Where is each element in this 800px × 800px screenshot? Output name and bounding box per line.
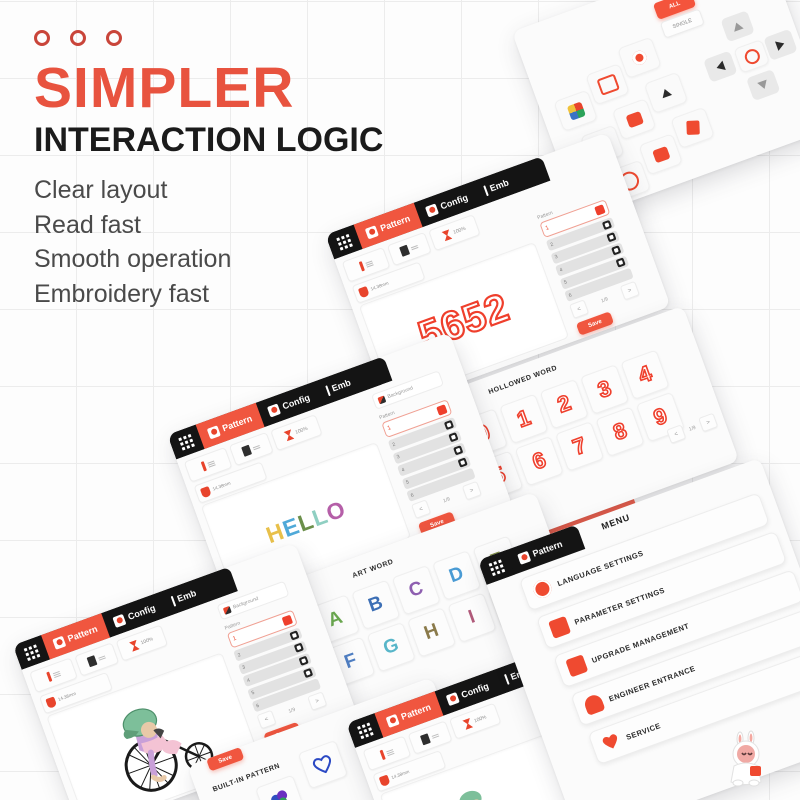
next-page-button[interactable]: > (620, 281, 640, 301)
shield-icon (45, 696, 57, 708)
tab-emb-label: Emb (176, 588, 198, 604)
pattern-thumb-icon (606, 232, 616, 242)
key-label: G (381, 634, 402, 660)
key-label: F (342, 650, 360, 675)
tab-config-label: Config (126, 603, 156, 622)
key-label: C (406, 577, 426, 602)
list-bubble-icon (548, 616, 571, 639)
flower-icon (268, 787, 293, 800)
key-letter[interactable]: C (392, 565, 441, 616)
icon-cell-color-palette[interactable] (553, 90, 598, 132)
key-letter[interactable]: D (432, 550, 481, 601)
key-pattern-flower[interactable] (255, 775, 306, 800)
spool-icon (399, 245, 410, 257)
key-digit[interactable]: 7 (555, 421, 604, 472)
hourglass-icon (284, 429, 295, 441)
page-indicator: 1/9 (442, 496, 451, 504)
tab-pattern-label: Pattern (66, 624, 99, 644)
tool-meta (431, 733, 439, 738)
grid-dots-icon (23, 644, 40, 661)
key-letter[interactable]: I (447, 592, 496, 643)
key-label: H (421, 620, 441, 645)
key-digit[interactable]: 3 (580, 364, 629, 415)
tool-meta (365, 260, 373, 267)
arrow-cursor-icon (660, 87, 672, 98)
list-item-label: 6 (568, 292, 573, 299)
page-indicator: 1/9 (600, 296, 609, 304)
magnify-box-icon (651, 146, 670, 163)
icon-cell-arrow-cursor[interactable] (644, 72, 689, 114)
tab-pattern-label: Pattern (531, 539, 564, 559)
key-label: 7 (569, 432, 589, 461)
list-item-label: 3 (241, 664, 246, 671)
heart-icon (600, 731, 623, 754)
icon-cell-frame[interactable] (585, 63, 630, 105)
upload-box-icon (565, 654, 588, 677)
shield-icon (379, 774, 391, 786)
tool-spool[interactable] (387, 232, 432, 266)
list-item-label: 3 (396, 454, 401, 461)
tab-emb-label: Emb (488, 177, 510, 193)
menu-item-label: ENGINEER ENTRANCE (607, 663, 696, 703)
config-icon (425, 203, 439, 217)
config-icon (446, 692, 460, 706)
tool-meta (411, 245, 419, 250)
thread-color-icon (200, 461, 206, 471)
key-digit[interactable]: 1 (499, 394, 548, 445)
thread-color-icon (358, 261, 364, 271)
tool-spool[interactable] (408, 720, 453, 754)
prev-page-button[interactable]: < (569, 299, 589, 319)
pattern-thumb-icon (616, 257, 626, 267)
key-label: D (446, 563, 466, 588)
dpad-up-button[interactable] (720, 10, 755, 42)
size-info-text: 14.38mm (391, 769, 410, 780)
background-swatch-icon (377, 395, 386, 404)
key-label: 6 (529, 447, 549, 476)
page-title: SIMPLER (34, 60, 454, 117)
circle-icon (106, 30, 122, 46)
key-letter[interactable]: H (407, 607, 456, 658)
list-item: Clear layout (34, 173, 454, 208)
key-label: B (366, 592, 386, 617)
hourglass-icon (129, 640, 140, 652)
camera-box-icon (625, 111, 644, 128)
key-label: 1 (514, 405, 534, 434)
size-info-text: 14.38mm (370, 280, 389, 291)
key-digit[interactable]: 4 (620, 349, 669, 400)
key-digit[interactable]: 2 (540, 379, 589, 430)
bunny-mascot-icon (718, 730, 776, 788)
emb-icon (325, 385, 331, 396)
list-item-label: 6 (255, 702, 260, 709)
tab-emb-label: Emb (330, 377, 352, 393)
pattern-icon (517, 550, 531, 564)
next-page-button[interactable]: > (698, 413, 718, 433)
pattern-selected-value: 1 (545, 225, 550, 232)
background-swatch-icon (223, 605, 232, 614)
center-target-icon (742, 47, 761, 66)
icon-cell-camera-box[interactable] (612, 98, 657, 140)
stitch-percent: 100% (473, 714, 487, 724)
tab-config-label: Config (439, 192, 469, 211)
triangle-up-icon (732, 21, 744, 32)
pattern-thumb-icon (294, 643, 304, 653)
pattern-thumb-icon (611, 245, 621, 255)
key-label: 3 (594, 375, 614, 404)
key-digit[interactable]: 6 (515, 436, 564, 487)
pattern-icon (365, 225, 379, 239)
hourglass-icon (462, 718, 473, 730)
stitch-percent: 100% (295, 426, 309, 436)
list-item-label: 2 (391, 441, 396, 448)
page-indicator: 1/9 (288, 706, 297, 714)
pattern-thumb-icon (281, 614, 293, 626)
grid-dots-icon (178, 434, 195, 451)
size-info-text: 14.38mm (57, 691, 76, 702)
tool-meta (98, 655, 106, 660)
key-letter[interactable]: G (367, 622, 416, 673)
tab-pattern-label: Pattern (221, 413, 254, 433)
thread-color-icon (46, 672, 52, 682)
circle-icon (34, 30, 50, 46)
bunny-mascot (718, 730, 776, 788)
prev-page-button[interactable]: < (256, 710, 276, 730)
pattern-thumb-icon (444, 419, 454, 429)
cyclist-embroidery-image (430, 764, 530, 800)
panel-title: ART WORD (352, 558, 395, 579)
tool-spool[interactable] (74, 642, 119, 676)
emb-icon (483, 185, 489, 196)
key-label: A (325, 607, 345, 632)
pattern-thumb-icon (298, 655, 308, 665)
tab-pattern-label: Pattern (379, 213, 412, 233)
tool-meta (253, 445, 261, 450)
config-icon (267, 403, 281, 417)
pattern-thumb-icon (458, 457, 468, 467)
list-item-label: 4 (246, 677, 251, 684)
key-digit[interactable]: 8 (595, 406, 644, 457)
icon-cell-pen-card[interactable] (670, 107, 715, 149)
key-label: 8 (610, 417, 630, 446)
globe-icon (531, 577, 554, 600)
pattern-thumb-icon (602, 219, 612, 229)
stitch-percent: 100% (140, 636, 154, 646)
key-label: 2 (554, 390, 574, 419)
tab-config-label: Config (281, 392, 311, 411)
pattern-thumb-icon (448, 432, 458, 442)
list-item-label: 4 (559, 267, 564, 274)
tool-meta (207, 460, 215, 467)
color-palette-icon (566, 101, 585, 120)
grid-dots-icon (488, 559, 505, 576)
config-icon (112, 613, 126, 627)
menu-item-label: SERVICE (625, 721, 662, 742)
triangle-left-icon (715, 61, 726, 73)
next-page-button[interactable]: > (462, 481, 482, 501)
key-label: I (466, 606, 478, 628)
shield-icon (358, 285, 370, 297)
spool-icon (87, 655, 98, 667)
prev-page-button[interactable]: < (411, 499, 431, 519)
page-subtitle: INTERACTION LOGIC (34, 123, 454, 157)
gear-icon (630, 49, 648, 67)
shield-icon (200, 485, 212, 497)
key-label: 4 (635, 360, 655, 389)
pattern-thumb-icon (436, 404, 448, 416)
key-label: 9 (650, 403, 670, 432)
list-item-label: 2 (549, 241, 554, 248)
dpad-right-button[interactable] (763, 29, 798, 61)
grid-dots-icon (356, 722, 373, 739)
frame-icon (596, 73, 620, 95)
pen-card-icon (686, 121, 699, 135)
tab-pattern-label: Pattern (400, 702, 433, 722)
dpad-left-button[interactable] (703, 51, 738, 83)
emb-icon (503, 674, 509, 685)
spool-icon (241, 445, 252, 457)
key-pattern-heart[interactable] (298, 740, 349, 789)
pattern-selected-value: 1 (232, 636, 237, 643)
pattern-thumb-icon (303, 668, 313, 678)
dpad-down-button[interactable] (746, 69, 781, 101)
stitch-percent: 100% (453, 226, 467, 236)
list-item-label: 5 (251, 690, 256, 697)
page-indicator: 1/9 (688, 424, 697, 432)
key-letter[interactable]: B (351, 580, 400, 631)
dot-row (34, 30, 454, 46)
icon-cell-magnify-box[interactable] (638, 133, 683, 175)
circle-icon (70, 30, 86, 46)
poster-root: SIMPLER INTERACTION LOGIC Clear layout R… (0, 0, 800, 800)
triangle-down-icon (757, 80, 769, 91)
list-item-label: 6 (410, 492, 415, 499)
pattern-selected-value: 1 (387, 425, 392, 432)
thread-color-icon (379, 750, 385, 760)
pattern-thumb-icon (289, 630, 299, 640)
grid-dots-icon (336, 234, 353, 251)
spool-icon (420, 733, 431, 745)
tab-config-label: Config (460, 681, 490, 700)
tool-meta (386, 749, 394, 756)
icon-cell-gear[interactable] (617, 37, 662, 79)
emb-icon (170, 595, 176, 606)
panel-title: MENU (600, 512, 631, 532)
list-item-label: 5 (405, 479, 410, 486)
pattern-icon (52, 635, 66, 649)
size-info-text: 14.38mm (212, 480, 231, 491)
hourglass-icon (442, 229, 453, 241)
engineer-hat-icon (582, 693, 605, 716)
pattern-icon (385, 713, 399, 727)
list-item-label: 2 (237, 652, 242, 659)
triangle-right-icon (775, 39, 786, 51)
tool-meta (52, 671, 60, 678)
tool-spool[interactable] (229, 432, 274, 466)
pattern-icon (207, 425, 221, 439)
list-item-label: 4 (401, 467, 406, 474)
pattern-thumb-icon (594, 204, 606, 216)
canvas-word: HELLO (262, 495, 349, 549)
list-item-label: 3 (554, 254, 559, 261)
heart-outline-icon (311, 753, 336, 777)
list-item-label: 5 (563, 279, 568, 286)
next-page-button[interactable]: > (307, 691, 327, 711)
pattern-thumb-icon (453, 445, 463, 455)
